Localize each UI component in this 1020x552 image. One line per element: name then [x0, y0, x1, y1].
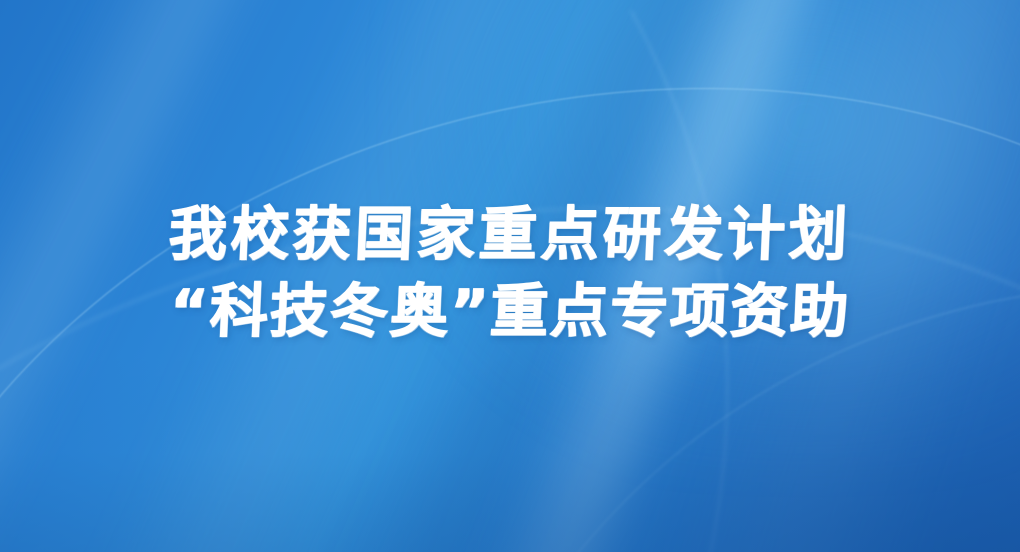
- headline-line-1: 我校获国家重点研发计划: [168, 205, 853, 264]
- headline-line-2: “科技冬奥”重点专项资助: [169, 282, 852, 341]
- headline-block: 我校获国家重点研发计划 “科技冬奥”重点专项资助: [0, 0, 1020, 552]
- news-banner: 我校获国家重点研发计划 “科技冬奥”重点专项资助: [0, 0, 1020, 552]
